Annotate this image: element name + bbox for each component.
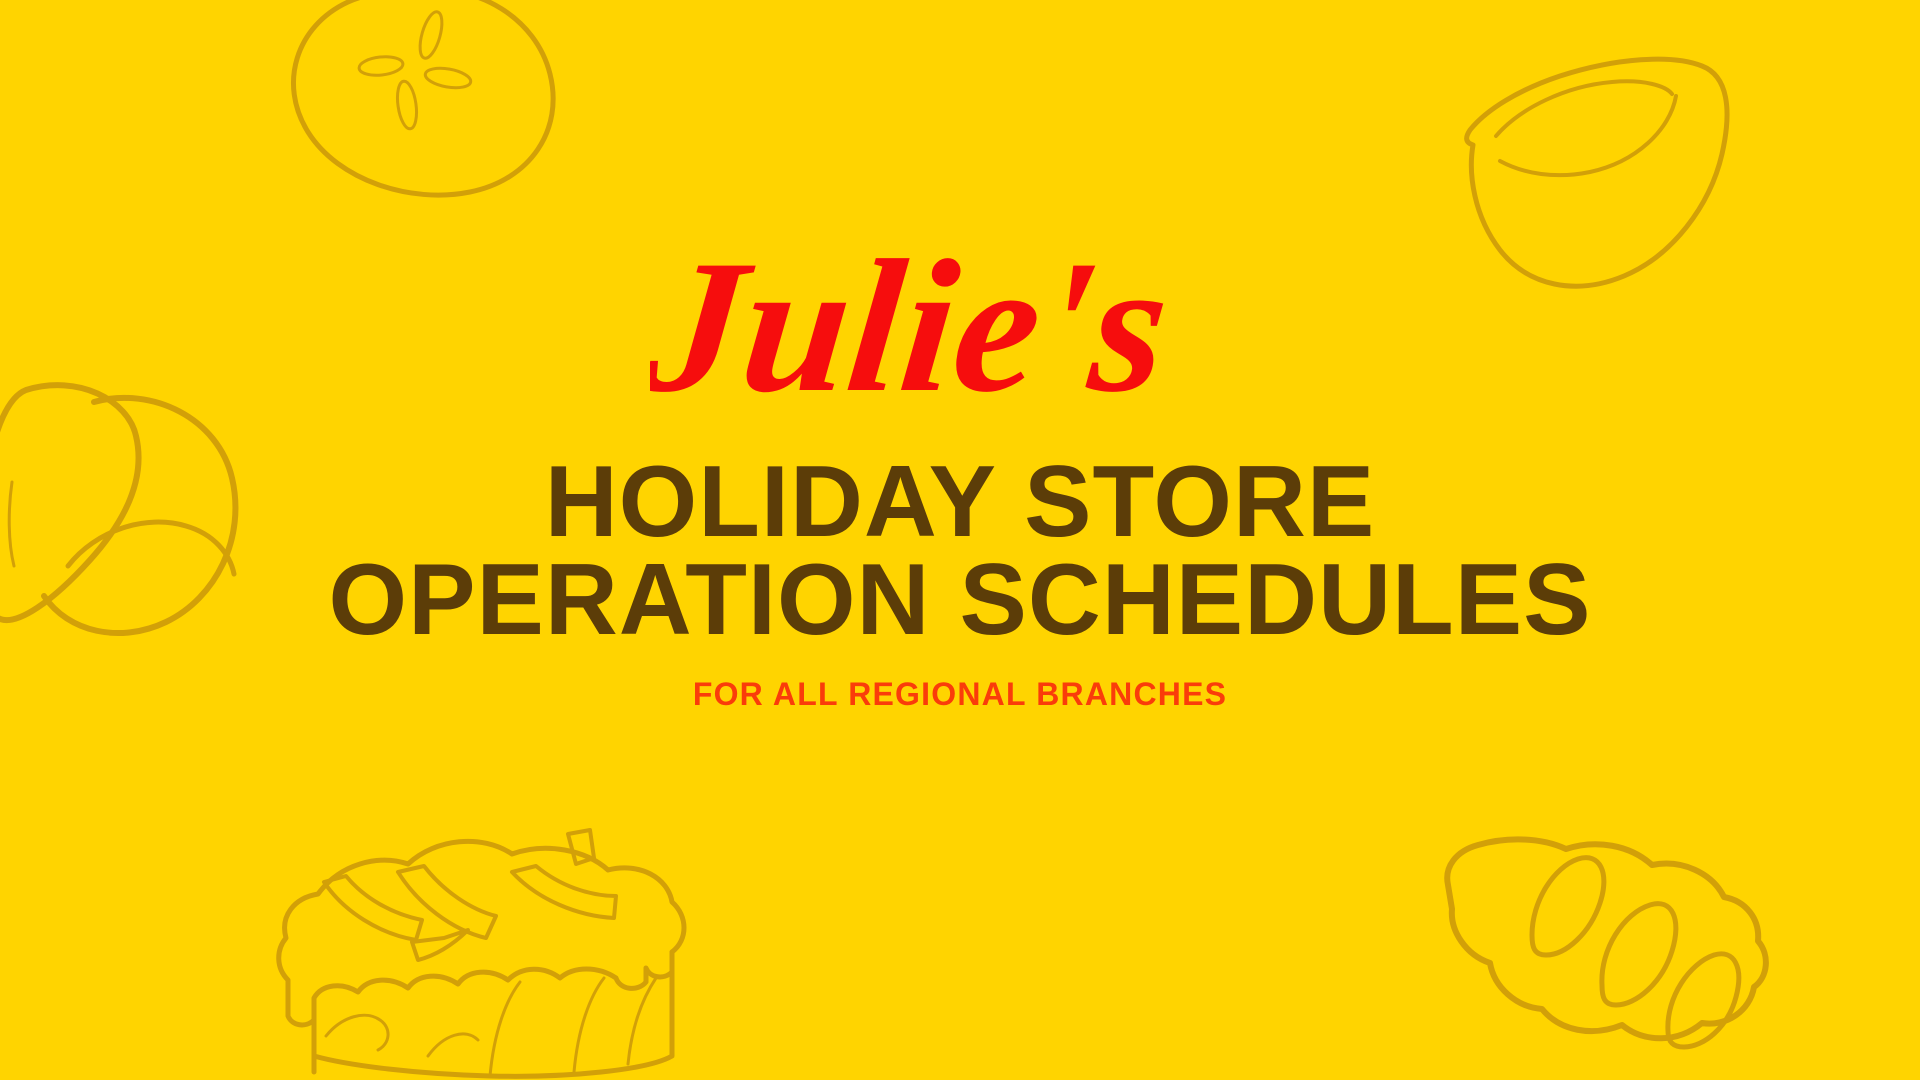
headline-line-1: HOLIDAY STORE xyxy=(329,454,1592,552)
subtitle: FOR ALL REGIONAL BRANCHES xyxy=(693,676,1227,713)
brand-wordmark-text: Julie's xyxy=(650,225,1178,432)
headline-line-2: OPERATION SCHEDULES xyxy=(329,552,1592,650)
page-title: HOLIDAY STORE OPERATION SCHEDULES xyxy=(329,454,1592,650)
brand-logo: Julie's xyxy=(650,225,1270,440)
poster-content: Julie's HOLIDAY STORE OPERATION SCHEDULE… xyxy=(0,0,1920,1080)
brand-wordmark-julies: Julie's xyxy=(650,225,1270,440)
poster-canvas: Julie's HOLIDAY STORE OPERATION SCHEDULE… xyxy=(0,0,1920,1080)
